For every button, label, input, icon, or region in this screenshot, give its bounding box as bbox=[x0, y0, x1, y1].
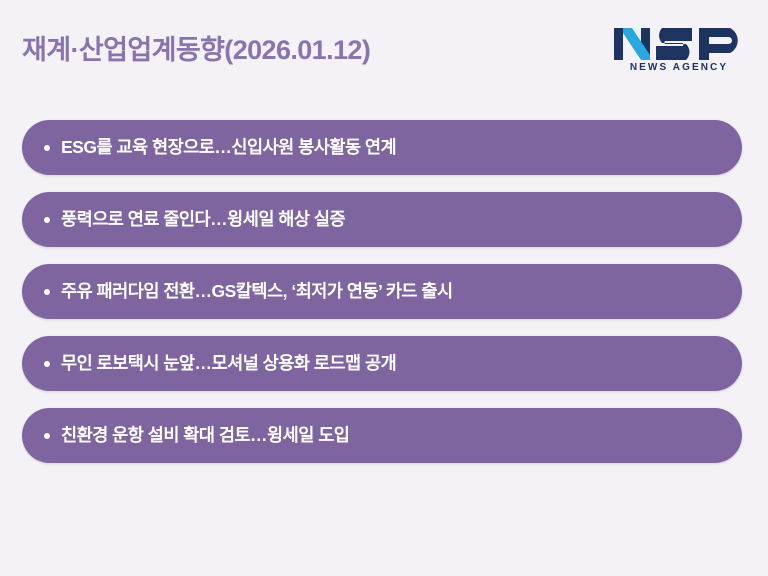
list-item[interactable]: ESG를 교육 현장으로…신입사원 봉사활동 연계 bbox=[22, 120, 742, 175]
list-item-label: 친환경 운항 설비 확대 검토…윙세일 도입 bbox=[61, 425, 742, 447]
headline-list: ESG를 교육 현장으로…신입사원 봉사활동 연계 풍력으로 연료 줄인다…윙세… bbox=[0, 120, 768, 480]
list-item-label: 무인 로보택시 눈앞…모셔널 상용화 로드맵 공개 bbox=[61, 353, 742, 375]
slide-canvas: 재계·산업업계동향(2026.01.12) NEWS AGENCY ESG를 교… bbox=[0, 0, 768, 576]
list-item[interactable]: 풍력으로 연료 줄인다…윙세일 해상 실증 bbox=[22, 192, 742, 247]
nsp-logo: NEWS AGENCY bbox=[612, 26, 746, 78]
page-title: 재계·산업업계동향(2026.01.12) bbox=[22, 34, 370, 66]
bullet-dot-icon bbox=[44, 433, 50, 439]
bullet-dot-icon bbox=[44, 217, 50, 223]
list-item[interactable]: 주유 패러다임 전환…GS칼텍스, ‘최저가 연동’ 카드 출시 bbox=[22, 264, 742, 319]
list-item[interactable]: 친환경 운항 설비 확대 검토…윙세일 도입 bbox=[22, 408, 742, 463]
bullet-dot-icon bbox=[44, 361, 50, 367]
bullet-dot-icon bbox=[44, 145, 50, 151]
list-item[interactable]: 무인 로보택시 눈앞…모셔널 상용화 로드맵 공개 bbox=[22, 336, 742, 391]
list-item-label: 풍력으로 연료 줄인다…윙세일 해상 실증 bbox=[61, 209, 742, 231]
bullet-dot-icon bbox=[44, 289, 50, 295]
nsp-logo-tagline: NEWS AGENCY bbox=[612, 62, 746, 74]
list-item-label: 주유 패러다임 전환…GS칼텍스, ‘최저가 연동’ 카드 출시 bbox=[61, 281, 742, 303]
nsp-logo-icon bbox=[612, 26, 746, 62]
slide-header: 재계·산업업계동향(2026.01.12) NEWS AGENCY bbox=[0, 0, 768, 108]
list-item-label: ESG를 교육 현장으로…신입사원 봉사활동 연계 bbox=[61, 137, 742, 159]
